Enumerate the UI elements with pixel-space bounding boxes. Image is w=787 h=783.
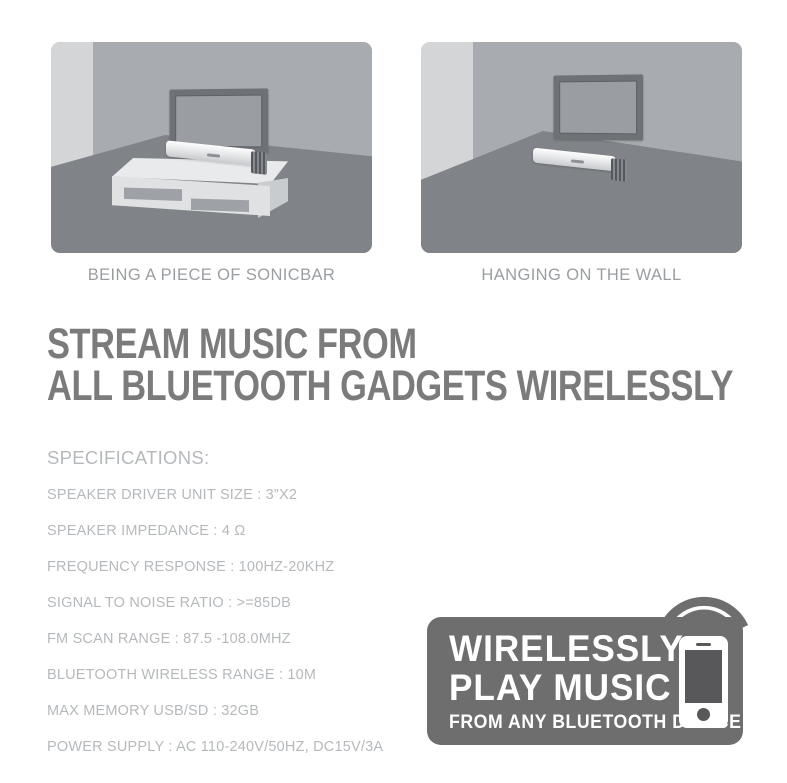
product-spec-sheet: BEING A PIECE OF SONICBAR HANGING ON THE… [0, 0, 787, 783]
specifications-section: SPECIFICATIONS: SPEAKER DRIVER UNIT SIZE… [47, 447, 467, 775]
illustration-panel-wall-mount [421, 42, 742, 253]
headline-line-2: ALL BLUETOOTH GADGETS WIRELESSLY [47, 365, 615, 407]
phone-screen [685, 650, 722, 703]
soundbar-end-cap [251, 151, 267, 175]
badge-line-3: FROM ANY BLUETOOTH DEVICE [449, 711, 670, 735]
phone-home-button [697, 708, 710, 721]
smartphone-icon [679, 636, 728, 728]
headline-line-1: STREAM MUSIC FROM [47, 323, 615, 365]
badge-line-1: WIRELESSLY [449, 629, 675, 668]
spec-row: FREQUENCY RESPONSE : 100HZ-20KHZ [47, 559, 467, 575]
spec-row: POWER SUPPLY : AC 110-240V/50HZ, DC15V/3… [47, 739, 467, 755]
spec-row: BLUETOOTH WIRELESS RANGE : 10M [47, 667, 467, 683]
panel-caption-sonicbar: BEING A PIECE OF SONICBAR [51, 266, 372, 285]
wireless-play-music-badge: WIRELESSLY PLAY MUSIC FROM ANY BLUETOOTH… [427, 617, 743, 745]
badge-text-block: WIRELESSLY PLAY MUSIC FROM ANY BLUETOOTH… [449, 629, 687, 735]
spec-row: SIGNAL TO NOISE RATIO : >=85DB [47, 595, 467, 611]
soundbar-icon [166, 145, 256, 161]
phone-earpiece [696, 643, 711, 646]
wifi-waves-icon [654, 575, 754, 633]
television-icon [554, 74, 644, 140]
soundbar-icon [533, 152, 616, 167]
room-scene-wall [421, 42, 742, 253]
room-scene-console [51, 42, 372, 253]
spec-row: MAX MEMORY USB/SD : 32GB [47, 703, 467, 719]
panel-caption-wall-mount: HANGING ON THE WALL [421, 266, 742, 285]
spec-row: FM SCAN RANGE : 87.5 -108.0MHZ [47, 631, 467, 647]
badge-line-2: PLAY MUSIC [449, 668, 675, 707]
tv-screen [175, 95, 262, 148]
tv-screen [559, 81, 637, 135]
spec-row: SPEAKER DRIVER UNIT SIZE : 3”X2 [47, 487, 467, 503]
headline: STREAM MUSIC FROM ALL BLUETOOTH GADGETS … [47, 323, 757, 407]
spec-row: SPEAKER IMPEDANCE : 4 Ω [47, 523, 467, 539]
illustration-panel-sonicbar [51, 42, 372, 253]
specifications-title: SPECIFICATIONS: [47, 447, 467, 469]
soundbar-end-cap [611, 158, 627, 182]
